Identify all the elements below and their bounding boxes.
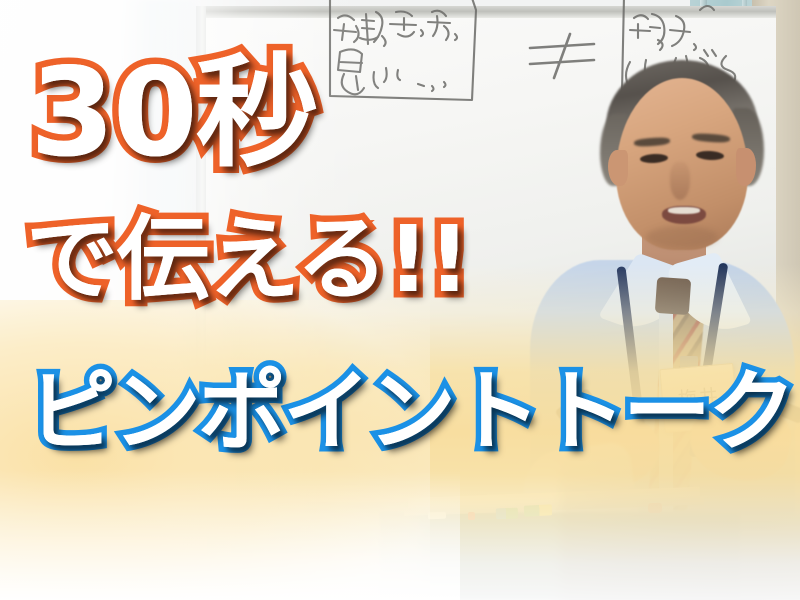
headline-line-2: で伝える!!	[26, 214, 469, 306]
headline-line-1: 30秒	[30, 52, 316, 174]
headline-line-3: ピンポイントトーク	[28, 368, 793, 456]
thumbnail-canvas: 梅井 30秒 30秒 で伝える!! で伝え	[0, 0, 800, 600]
headline-group: 30秒 30秒 で伝える!! で伝える!! ピンポイントトーク ピンポイントトー…	[0, 0, 800, 600]
